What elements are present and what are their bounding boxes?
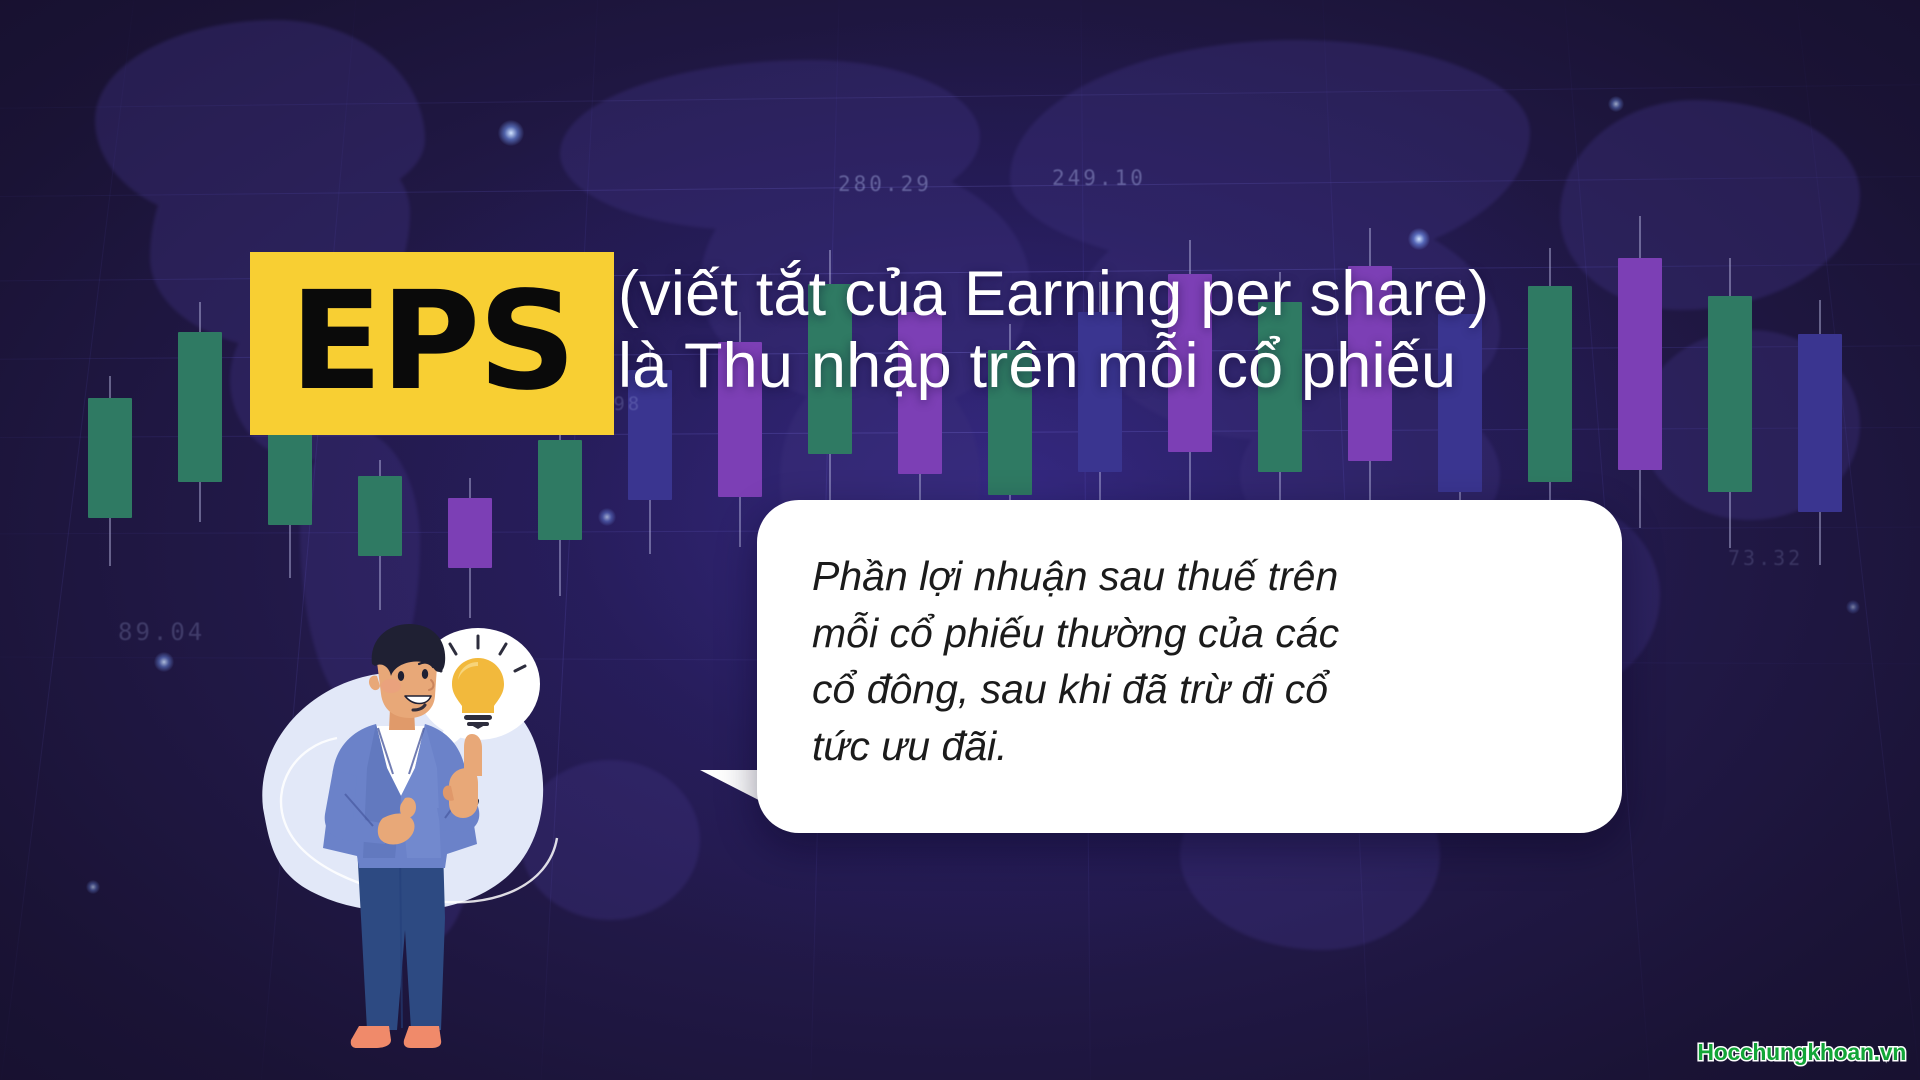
eye-right bbox=[422, 669, 428, 679]
watermark: Hocchungkhoan.vn bbox=[1697, 1039, 1906, 1066]
bubble-line-4: tức ưu đãi. bbox=[812, 718, 1570, 775]
price-label: 73.32 bbox=[1728, 546, 1803, 570]
headline-line-2: là Thu nhập trên mỗi cổ phiếu bbox=[618, 330, 1878, 402]
price-label: 280.29 bbox=[838, 172, 932, 196]
shoe-right bbox=[404, 1026, 441, 1048]
price-label: 249.10 bbox=[1052, 166, 1146, 190]
character-illustration bbox=[245, 618, 575, 1068]
speech-bubble-text: Phần lợi nhuận sau thuế trên mỗi cổ phiế… bbox=[812, 548, 1570, 774]
shoe-left bbox=[351, 1026, 391, 1048]
slide-canvas: 280.29 249.10 4.53 53.98 89.04 73.32 EPS… bbox=[0, 0, 1920, 1080]
price-label: 89.04 bbox=[118, 618, 205, 646]
eps-badge-label: EPS bbox=[290, 274, 575, 410]
speech-bubble: Phần lợi nhuận sau thuế trên mỗi cổ phiế… bbox=[757, 500, 1622, 833]
page-title: (viết tắt của Earning per share) là Thu … bbox=[618, 258, 1878, 403]
bubble-line-2: mỗi cổ phiếu thường của các bbox=[812, 605, 1570, 662]
bubble-line-1: Phần lợi nhuận sau thuế trên bbox=[812, 548, 1570, 605]
bubble-line-3: cổ đông, sau khi đã trừ đi cổ bbox=[812, 661, 1570, 718]
cheek bbox=[381, 679, 401, 693]
eps-badge: EPS bbox=[250, 252, 614, 435]
eye-left bbox=[398, 671, 404, 681]
headline-line-1: (viết tắt của Earning per share) bbox=[618, 259, 1489, 329]
